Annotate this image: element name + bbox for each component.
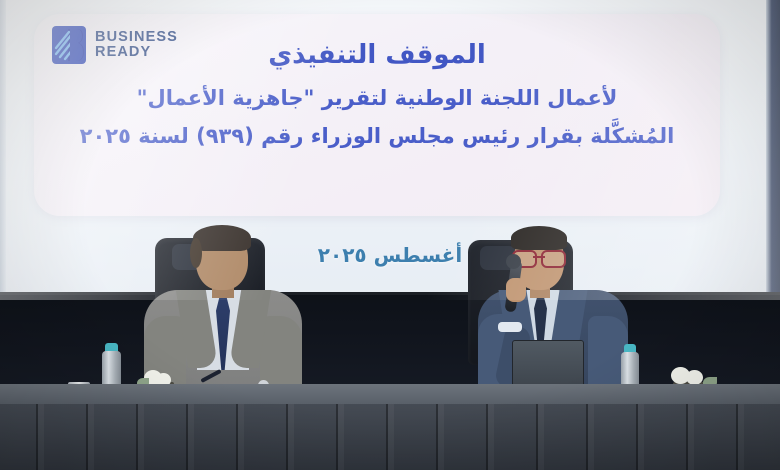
backdrop-seam (0, 292, 780, 295)
slide-date-caption: أغسطس ٢٠٢٥ (0, 243, 780, 267)
tablet-device[interactable] (512, 340, 584, 390)
slide-title-line-1: الموقف التنفيذي (268, 40, 486, 70)
flower-bloom-right-2 (686, 370, 703, 385)
right-shirt-cuff (498, 322, 522, 332)
left-sideburn (190, 238, 202, 268)
table-skirt-pleats (0, 404, 780, 470)
slide-title-line-2: لأعمال اللجنة الوطنية لتقرير "جاهزية الأ… (137, 86, 618, 110)
left-hair (193, 225, 251, 251)
eyeglasses-lens-right (541, 250, 566, 268)
right-hand-holding-mic (506, 278, 526, 302)
slide-text-block: الموقف التنفيذي لأعمال اللجنة الوطنية لت… (34, 40, 720, 148)
microphone-head-icon (506, 254, 521, 269)
photo-stage: BUSINESS READY الموقف التنفيذي لأعمال ال… (0, 0, 780, 470)
slide-card: BUSINESS READY الموقف التنفيذي لأعمال ال… (34, 14, 720, 216)
slide-title-line-3: المُشكَّلة بقرار رئيس مجلس الوزراء رقم (… (80, 124, 675, 148)
right-hair (511, 226, 567, 250)
eyeglasses-bridge (533, 256, 545, 258)
